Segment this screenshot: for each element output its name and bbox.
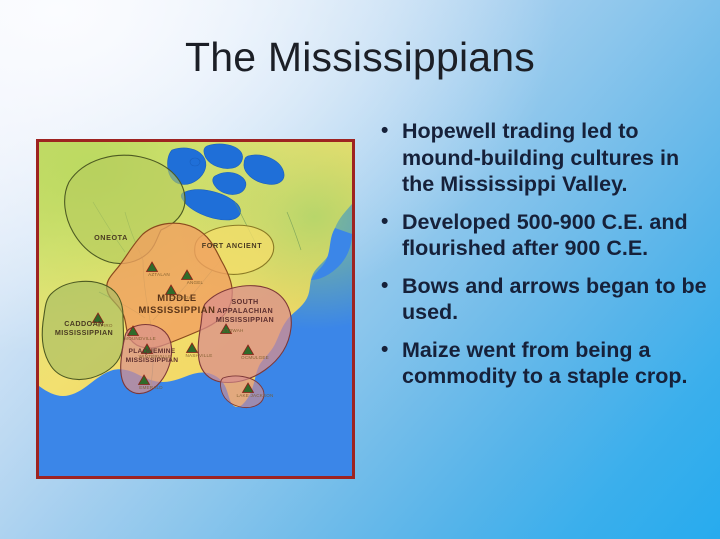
slide-canvas: The Mississippians xyxy=(0,0,720,539)
map-site-emerald: EMERALD xyxy=(139,385,163,390)
bullet-text: Bows and arrows began to be used. xyxy=(402,274,707,325)
bullet-marker: • xyxy=(381,118,388,145)
bullet-text: Maize went from being a commodity to a s… xyxy=(402,338,688,389)
bullet-marker: • xyxy=(381,273,388,300)
map-site-lake-jackson: LAKE JACKSON xyxy=(236,393,273,398)
map-label-south-app-3: MISSISSIPPIAN xyxy=(216,315,274,324)
list-item: • Bows and arrows began to be used. xyxy=(375,273,713,326)
list-item: • Hopewell trading led to mound-building… xyxy=(375,118,713,198)
map-site-aztalan: AZTALAN xyxy=(148,272,170,277)
page-title: The Mississippians xyxy=(0,34,720,81)
map-label-oneota: ONEOTA xyxy=(94,233,128,242)
map-site-etowah: ETOWAH xyxy=(222,328,243,333)
bullet-text: Hopewell trading led to mound-building c… xyxy=(402,119,679,196)
map-site-cahokia: CAHOKIA xyxy=(170,295,193,300)
map-site-ocmulgee: OCMULGEE xyxy=(241,355,269,360)
bullet-marker: • xyxy=(381,209,388,236)
map-label-middle-2: MISSISSIPPIAN xyxy=(138,304,215,315)
bullet-list: • Hopewell trading led to mound-building… xyxy=(375,118,713,401)
map-site-winterville: WINTERVILLE xyxy=(139,354,172,359)
map-site-moundville: MOUNDVILLE xyxy=(124,336,156,341)
map-site-angel: ANGEL xyxy=(187,280,204,285)
map-label-south-app-2: APPALACHIAN xyxy=(217,306,273,315)
map-label-south-app-1: SOUTH xyxy=(231,297,258,306)
mississippian-cultures-map: ONEOTA FORT ANCIENT MIDDLE MISSISSIPPIAN… xyxy=(39,142,352,476)
map-site-spiro: SPIRO xyxy=(97,323,113,328)
map-site-nashville: NASHVILLE xyxy=(185,353,212,358)
bullet-marker: • xyxy=(381,337,388,364)
map-label-caddoan-2: MISSISSIPPIAN xyxy=(55,328,113,337)
list-item: • Developed 500-900 C.E. and flourished … xyxy=(375,209,713,262)
bullet-text: Developed 500-900 C.E. and flourished af… xyxy=(402,210,688,261)
list-item: • Maize went from being a commodity to a… xyxy=(375,337,713,390)
map-image-frame: ONEOTA FORT ANCIENT MIDDLE MISSISSIPPIAN… xyxy=(36,139,355,479)
map-label-fort-ancient: FORT ANCIENT xyxy=(202,241,262,250)
